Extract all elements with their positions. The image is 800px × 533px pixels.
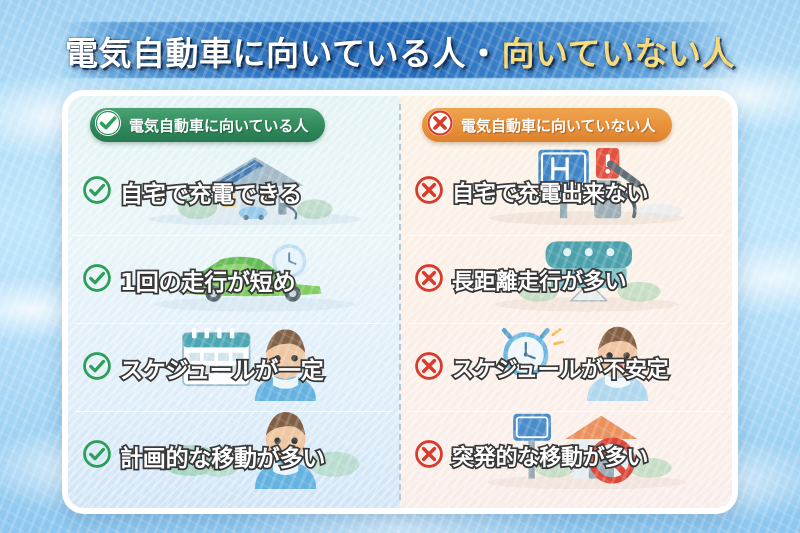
list-item-label: 突発的な移動が多い: [452, 440, 648, 472]
check-circle-icon: [82, 439, 112, 473]
column-header-label-suited: 電気自動車に向いている人: [129, 115, 309, 136]
column-not-suited: 電気自動車に向いていない人: [400, 96, 732, 508]
list-item-label: 自宅で充電出来ない: [452, 176, 648, 208]
list-item[interactable]: 計画的な移動が多い: [76, 412, 392, 500]
list-item[interactable]: スケジュールが一定: [76, 324, 392, 412]
cross-circle-icon: [414, 263, 444, 297]
list-item-label: スケジュールが不安定: [452, 352, 668, 384]
column-header-label-not-suited: 電気自動車に向いていない人: [461, 115, 656, 136]
check-circle-icon: [82, 175, 112, 209]
column-header-suited: 電気自動車に向いている人: [90, 108, 325, 142]
list-item[interactable]: 1回の走行が短め: [76, 236, 392, 324]
list-item[interactable]: 長距離走行が多い: [408, 236, 724, 324]
page-title-primary: 電気自動車に向いている人: [65, 27, 466, 75]
list-item-label: 1回の走行が短め: [120, 263, 295, 297]
list-item-label: 自宅で充電できる: [120, 175, 302, 209]
list-item[interactable]: 自宅で充電出来ない: [408, 148, 724, 236]
check-circle-icon: [94, 109, 122, 141]
cross-circle-icon: [426, 109, 454, 141]
list-item[interactable]: 自宅で充電できる: [76, 148, 392, 236]
list-item[interactable]: スケジュールが不安定: [408, 324, 724, 412]
list-item-label: スケジュールが一定: [120, 351, 324, 385]
cross-circle-icon: [414, 351, 444, 385]
list-item[interactable]: 突発的な移動が多い: [408, 412, 724, 500]
check-circle-icon: [82, 351, 112, 385]
list-item-label: 計画的な移動が多い: [120, 439, 325, 473]
comparison-panel: 電気自動車に向いている人: [62, 90, 738, 514]
rows-not-suited: 自宅で充電出来ない: [408, 148, 724, 500]
column-divider: [399, 104, 401, 500]
infographic-canvas: 電気自動車に向いている人・向いていない人 電気自動車に向いている人: [0, 0, 800, 533]
column-suited: 電気自動車に向いている人: [68, 96, 400, 508]
check-circle-icon: [82, 263, 112, 297]
page-title-separator: ・: [466, 27, 502, 75]
page-title-highlight: 向いていない人: [502, 27, 736, 75]
cross-circle-icon: [414, 175, 444, 209]
cross-circle-icon: [414, 439, 444, 473]
page-title: 電気自動車に向いている人・向いていない人: [0, 20, 800, 82]
rows-suited: 自宅で充電できる: [76, 148, 392, 500]
column-header-not-suited: 電気自動車に向いていない人: [422, 108, 672, 142]
list-item-label: 長距離走行が多い: [452, 264, 626, 296]
